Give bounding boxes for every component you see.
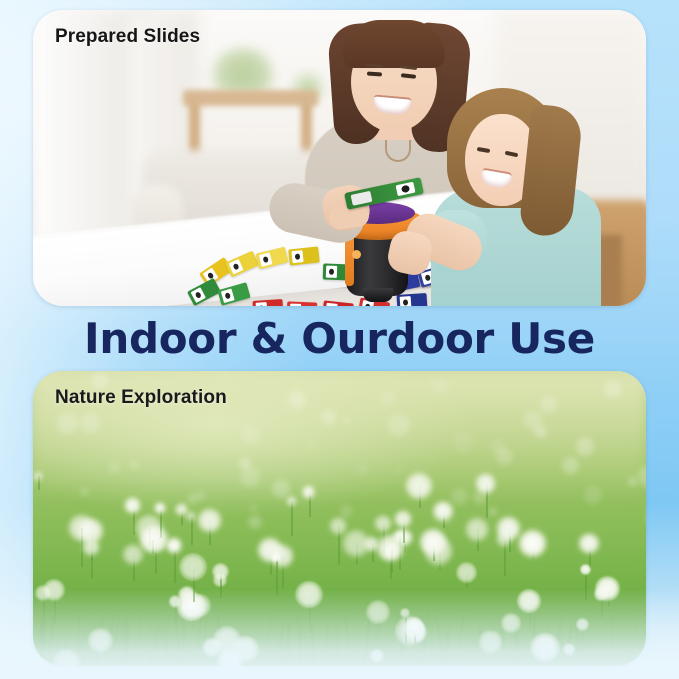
photo-outdoor-scene <box>33 371 646 666</box>
grass-blade <box>436 657 440 666</box>
bokeh-light <box>196 492 205 501</box>
microscope-lens <box>363 288 393 302</box>
dandelion-flower <box>405 472 433 500</box>
dandelion-flower <box>197 508 222 533</box>
slide-specimen-icon <box>256 302 268 306</box>
slide-specimen-icon <box>221 289 235 304</box>
bokeh-light <box>130 460 138 468</box>
dandelion-flower <box>465 517 489 541</box>
bokeh-light <box>562 457 579 474</box>
dandelion-flower <box>212 563 229 580</box>
bokeh-light <box>357 463 368 474</box>
bokeh-light <box>584 486 602 504</box>
bokeh-light <box>272 480 290 498</box>
bokeh-light <box>453 432 474 453</box>
bokeh-light <box>80 413 100 433</box>
bokeh-light <box>321 410 335 424</box>
slide-specimen-icon <box>400 296 412 306</box>
slide-card <box>252 299 283 306</box>
bokeh-light <box>396 467 402 473</box>
dandelion-flower <box>496 516 520 540</box>
slide-specimen-icon <box>290 304 301 306</box>
dandelion-flower <box>404 617 424 637</box>
slide-card <box>288 246 320 265</box>
slide-card <box>217 282 250 306</box>
bokeh-light <box>427 378 434 385</box>
dandelion-flower <box>456 562 477 583</box>
dandelion-flower <box>43 579 65 601</box>
microscope-focus-knob <box>352 250 361 259</box>
dandelion-flower <box>394 510 412 528</box>
bokeh-light <box>489 508 497 516</box>
dandelion-flower <box>501 613 520 632</box>
dandelion-flower <box>179 553 207 581</box>
dandelion-flower <box>33 471 43 481</box>
bokeh-light <box>242 427 259 444</box>
card-prepared-slides: Prepared Slides <box>33 10 646 306</box>
slide-specimen-icon <box>259 252 273 266</box>
bokeh-light <box>109 463 119 473</box>
bokeh-light <box>340 505 353 518</box>
caption-prepared-slides: Prepared Slides <box>55 26 200 48</box>
bokeh-light <box>81 488 88 495</box>
card-nature-exploration: Nature Exploration <box>33 371 646 666</box>
bokeh-light <box>308 441 315 448</box>
dandelion-flower <box>518 529 548 559</box>
caption-nature-exploration: Nature Exploration <box>55 387 227 409</box>
slide-specimen-icon <box>325 303 337 306</box>
bokeh-light <box>248 515 262 529</box>
wooden-shelf <box>183 90 318 106</box>
woman-hair-top <box>343 20 445 68</box>
bokeh-light <box>576 437 595 456</box>
grass-blade <box>109 656 113 666</box>
dandelion-flower <box>517 589 542 614</box>
bokeh-light <box>250 505 257 512</box>
dandelion-flower <box>580 564 592 576</box>
bokeh-light <box>222 372 228 378</box>
marketing-banner: Prepared Slides Indoor & Ourdoor Use <box>0 0 679 679</box>
dandelion-stem <box>276 557 278 596</box>
dandelion-flower <box>302 485 315 498</box>
grass-blade <box>269 651 273 666</box>
dandelion-flower <box>186 511 196 521</box>
dandelion-flower <box>563 643 575 655</box>
slide-specimen-icon <box>229 259 244 274</box>
dandelion-flower <box>88 628 113 653</box>
dandelion-flower <box>124 497 140 513</box>
slide-specimen-icon <box>326 266 337 278</box>
bokeh-light <box>432 377 448 393</box>
dandelion-flower <box>295 581 323 609</box>
dandelion-flower <box>154 502 166 514</box>
bokeh-light <box>604 381 621 398</box>
dandelion-flower <box>342 529 370 557</box>
dandelion-flower <box>595 576 620 601</box>
dandelion-flower <box>177 592 205 620</box>
page-title: Indoor & Ourdoor Use <box>0 312 679 364</box>
slide-card <box>322 300 354 306</box>
dandelion-flower <box>366 600 390 624</box>
slide-card <box>396 293 427 306</box>
slide-card <box>287 301 318 306</box>
slide-specimen-window <box>396 182 416 197</box>
dandelion-flower <box>82 538 100 556</box>
grass-meadow-background <box>33 371 646 666</box>
dandelion-flower <box>578 533 600 555</box>
bokeh-light <box>33 371 39 377</box>
dandelion-flower <box>217 648 243 666</box>
slide-card <box>187 278 221 306</box>
bokeh-light <box>451 488 468 505</box>
grass-blade <box>592 627 599 666</box>
grass-blade <box>323 620 330 666</box>
dandelion-flower <box>374 515 391 532</box>
dandelion-stem <box>291 501 293 536</box>
photo-indoor-scene <box>33 10 646 306</box>
dandelion-flower <box>175 503 188 516</box>
grass-blade <box>590 652 593 666</box>
dandelion-flower <box>166 537 182 553</box>
dandelion-flower <box>370 649 384 663</box>
slide-label <box>351 191 373 206</box>
plant-top <box>211 46 275 94</box>
dandelion-flower <box>400 608 410 618</box>
grass-blade <box>308 642 311 666</box>
dandelion-flower <box>419 528 447 556</box>
grass-blade <box>182 616 185 666</box>
dandelion-flower <box>286 496 297 507</box>
bokeh-light <box>496 448 513 465</box>
dandelion-flower <box>479 630 502 653</box>
dandelion-flower <box>329 517 347 535</box>
grass-blade <box>165 613 169 666</box>
slide-specimen-icon <box>191 287 206 303</box>
slide-specimen-icon <box>291 250 303 263</box>
dandelion-flower <box>530 633 559 662</box>
dandelion-flower <box>271 552 281 562</box>
